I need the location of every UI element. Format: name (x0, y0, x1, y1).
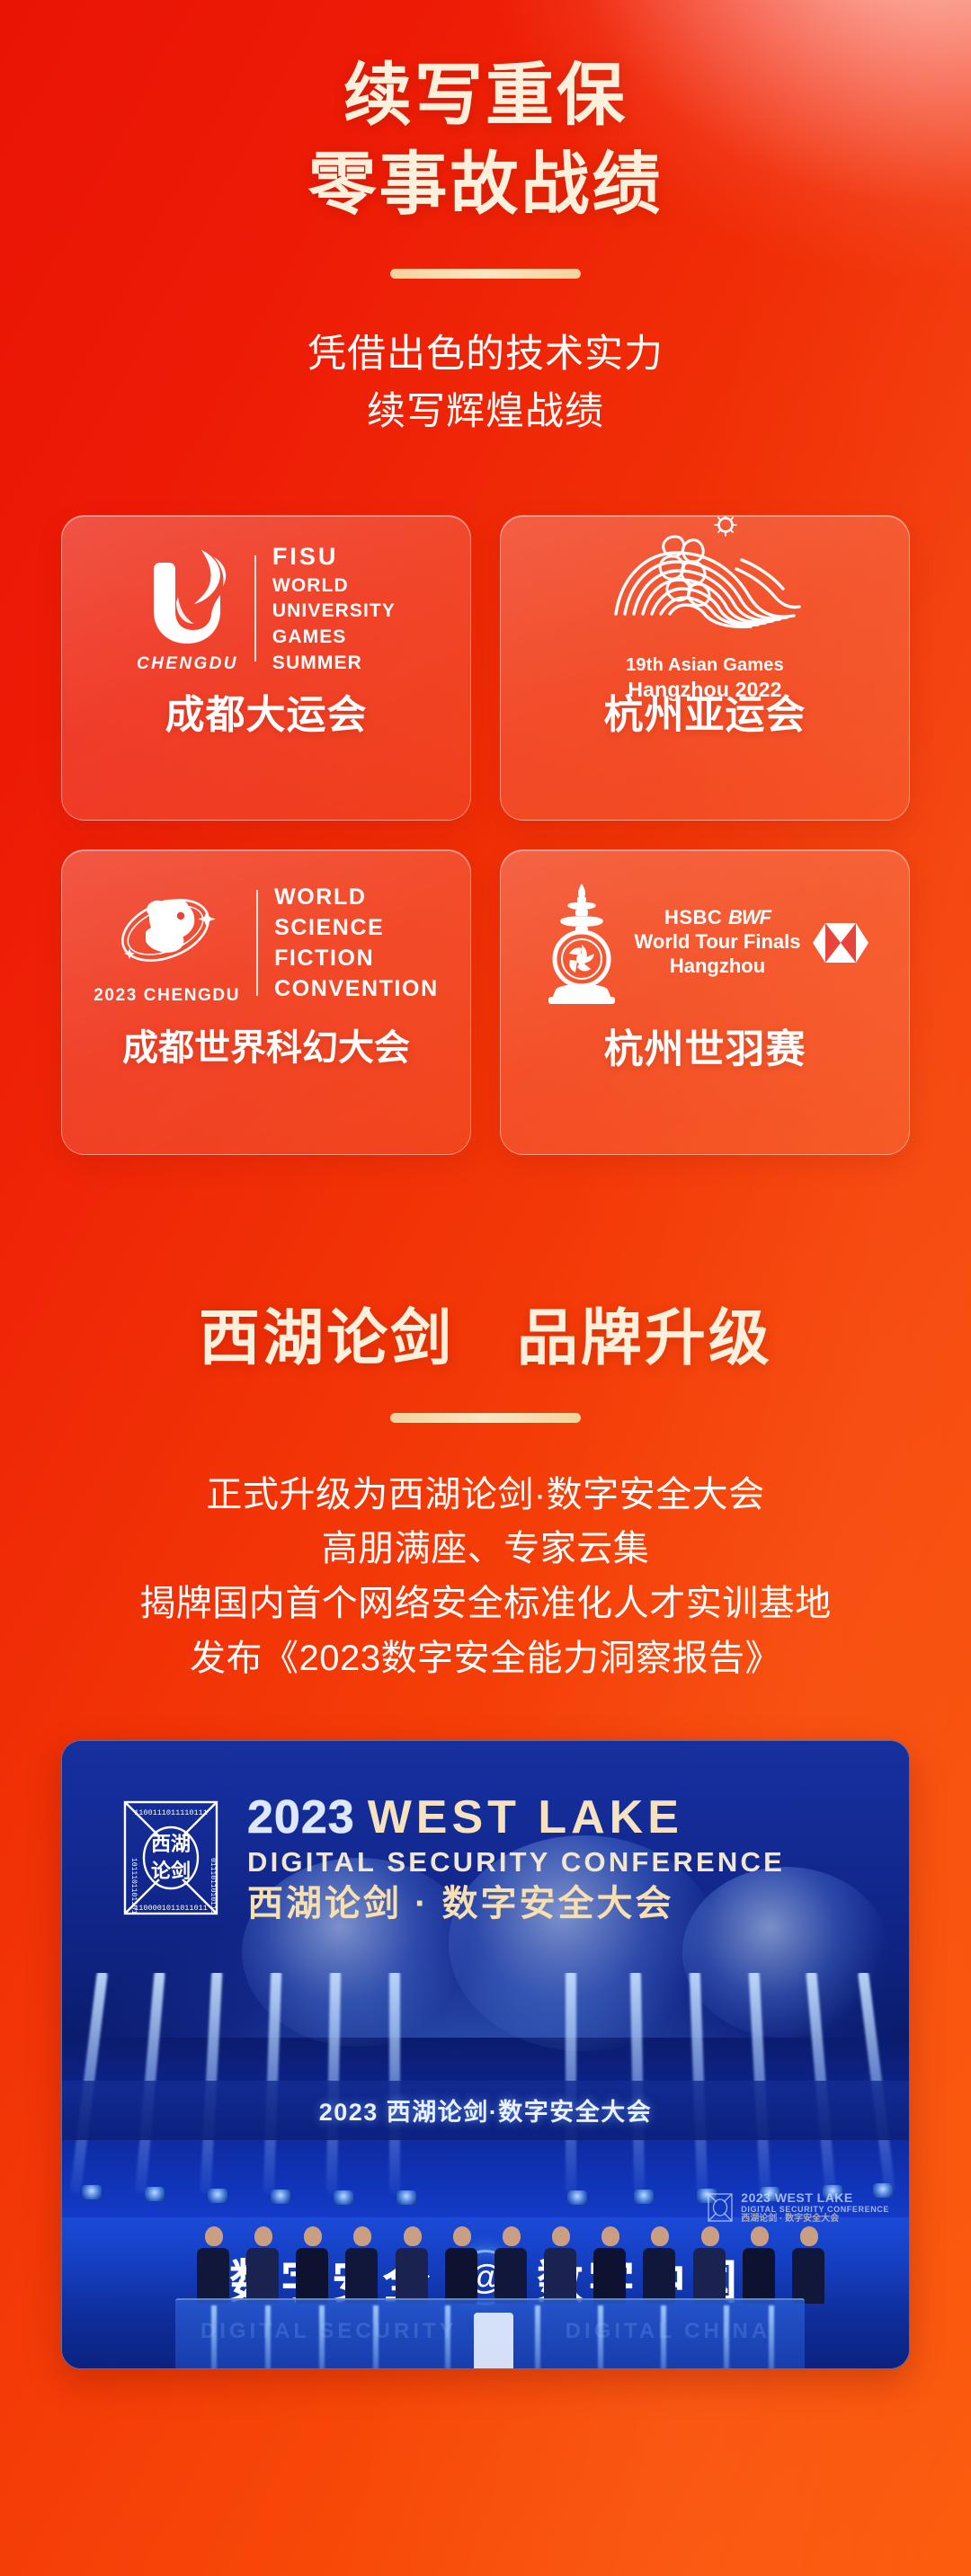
section2-body-line-3: 揭牌国内首个网络安全标准化人才实训基地 (0, 1577, 971, 1631)
event-card-hangzhou-asian-games[interactable]: 19th Asian Games Hangzhou 2022 杭州亚运会 (500, 515, 910, 821)
worldcon-line-convention: CONVENTION (274, 973, 439, 1004)
hangzhou-asian-games-logo: 19th Asian Games Hangzhou 2022 (501, 516, 909, 696)
hero-subtitle-line-2: 续写辉煌战绩 (0, 383, 971, 441)
hsbc-bwf-world-tour-finals-logo: HSBC BWF World Tour Finals Hangzhou (501, 850, 909, 1030)
west-lake-conference-emblem: 西湖 论剑 1100111011110111 1100001011011011 … (118, 1795, 224, 1921)
fisu-label: FISU (272, 540, 396, 573)
hero-subtitle-line-1: 凭借出色的技术实力 (0, 325, 971, 384)
hero-subtitle: 凭借出色的技术实力 续写辉煌战绩 (0, 325, 971, 441)
lockup-divider (256, 890, 258, 996)
section2-title-part-b: 品牌升级 (517, 1304, 772, 1372)
event-card-chengdu-universiade[interactable]: CHENGDU FISU WORLD UNIVERSITY GAMES SUMM… (61, 515, 471, 821)
photo-header-west-lake: WEST LAKE (368, 1793, 683, 1843)
bwf-sponsor-label: HSBC (664, 906, 722, 928)
svg-text:西湖: 西湖 (151, 1833, 191, 1855)
stage-banner-text: 2023 西湖论剑·数字安全大会 (319, 2092, 653, 2127)
worldcon-line-world: WORLD (274, 882, 439, 912)
bwf-line-world-tour-finals: World Tour Finals (635, 930, 801, 955)
section2-body-line-4: 发布《2023数字安全能力洞察报告》 (0, 1631, 971, 1686)
chengdu-mark-caption: CHENGDU (137, 654, 238, 674)
chengdu-universiade-logo: CHENGDU FISU WORLD UNIVERSITY GAMES SUMM… (62, 516, 470, 696)
corner-badge-year: 2023 WEST LAKE (741, 2190, 889, 2205)
brand-upgrade-section: 西湖论剑 品牌升级 正式升级为西湖论剑·数字安全大会 高朋满座、专家云集 揭牌国… (0, 1288, 971, 1686)
event-card-label: 杭州世羽赛 (604, 1030, 806, 1070)
hero-title-line-2: 零事故战绩 (0, 141, 971, 230)
event-card-worldcon-chengdu[interactable]: 2023 CHENGDU WORLD SCIENCE FICTION CONVE… (61, 849, 471, 1155)
asian-games-fan-icon (601, 515, 808, 648)
section2-title-part-a: 西湖论剑 (199, 1304, 454, 1372)
page-title: 续写重保 零事故战绩 (0, 52, 971, 230)
section2-body-line-2: 高朋满座、专家云集 (0, 1522, 971, 1577)
promo-poster: 续写重保 零事故战绩 凭借出色的技术实力 续写辉煌战绩 (0, 0, 971, 2576)
hero-title-line-1: 续写重保 (0, 52, 971, 141)
corner-badge-en: DIGITAL SECURITY CONFERENCE (741, 2205, 889, 2214)
u-flame-icon (138, 543, 236, 649)
hsbc-hexagon-icon (813, 923, 869, 963)
corner-badge-cn: 西湖论剑 · 数字安全大会 (741, 2214, 889, 2225)
panda-orbit-icon (110, 880, 225, 981)
section2-body: 正式升级为西湖论剑·数字安全大会 高朋满座、专家云集 揭牌国内首个网络安全标准化… (0, 1468, 971, 1686)
event-card-label: 成都世界科幻大会 (122, 1030, 410, 1066)
worldcon-chengdu-panda-logo: 2023 CHENGDU WORLD SCIENCE FICTION CONVE… (62, 850, 470, 1030)
svg-text:论剑: 论剑 (151, 1860, 191, 1882)
hero-divider (390, 269, 581, 279)
pagoda-shuttlecock-icon (541, 880, 622, 1006)
section2-divider (390, 1413, 581, 1423)
conference-photo-image: 西湖 论剑 1100111011110111 1100001011011011 … (62, 1741, 909, 2368)
photo-corner-badge: 2023 WEST LAKE DIGITAL SECURITY CONFEREN… (707, 2190, 889, 2225)
bwf-label: BWF (728, 906, 771, 928)
worldcon-text-block: WORLD SCIENCE FICTION CONVENTION (274, 882, 439, 1004)
event-card-bwf-world-tour-finals[interactable]: HSBC BWF World Tour Finals Hangzhou (500, 849, 910, 1155)
photo-header-sub-en: DIGITAL SECURITY CONFERENCE (247, 1848, 785, 1878)
stage-banner: 2023 西湖论剑·数字安全大会 (62, 2081, 909, 2140)
bwf-text-block: HSBC BWF World Tour Finals Hangzhou (635, 906, 801, 978)
fisu-line-world: WORLD (272, 573, 396, 600)
event-card-label: 杭州亚运会 (604, 696, 806, 735)
asian-games-caption-line-1: 19th Asian Games (626, 653, 784, 677)
conference-photo: 西湖 论剑 1100111011110111 1100001011011011 … (61, 1740, 910, 2369)
fisu-line-games: GAMES (272, 625, 396, 651)
section2-body-line-1: 正式升级为西湖论剑·数字安全大会 (0, 1468, 971, 1523)
worldcon-mark-caption: 2023 CHENGDU (94, 986, 240, 1006)
event-card-grid: CHENGDU FISU WORLD UNIVERSITY GAMES SUMM… (61, 515, 910, 1155)
lockup-divider (254, 555, 256, 662)
section2-title: 西湖论剑 品牌升级 (0, 1288, 971, 1377)
svg-text:0111011010110: 0111011010110 (209, 1858, 217, 1914)
worldcon-line-fiction: FICTION (274, 943, 439, 973)
worldcon-line-science: SCIENCE (274, 912, 439, 943)
emblem-binary-top: 1100111011110111 (134, 1808, 208, 1817)
corner-emblem-icon (707, 2192, 734, 2223)
stage-podium (175, 2298, 805, 2369)
hero-section: 续写重保 零事故战绩 凭借出色的技术实力 续写辉煌战绩 (0, 0, 971, 441)
fisu-line-university: UNIVERSITY (272, 599, 396, 625)
svg-text:1011101101101: 1011101101101 (129, 1858, 138, 1914)
bwf-line-hangzhou: Hangzhou (635, 955, 801, 979)
photo-header-year: 2023 (247, 1793, 355, 1843)
fisu-text-block: FISU WORLD UNIVERSITY GAMES SUMMER (272, 540, 396, 676)
photo-header-overlay: 西湖 论剑 1100111011110111 1100001011011011 … (118, 1793, 785, 1923)
fisu-line-summer: SUMMER (272, 651, 396, 677)
event-card-label: 成都大运会 (165, 696, 368, 735)
emblem-binary-bottom: 1100001011011011 (134, 1904, 208, 1913)
photo-header-sub-cn: 西湖论剑 · 数字安全大会 (247, 1885, 785, 1923)
